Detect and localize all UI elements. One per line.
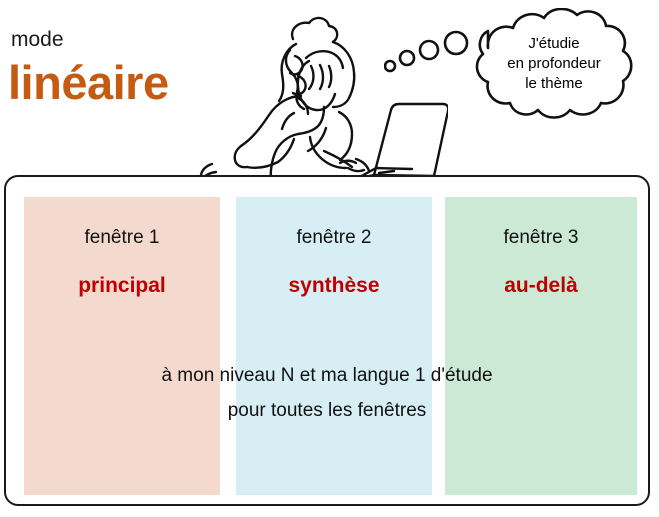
window-column-3[interactable]: fenêtre 3 au-delà bbox=[445, 197, 637, 495]
thought-dot-2 bbox=[400, 51, 414, 65]
window-column-1-label: fenêtre 1 bbox=[24, 226, 220, 249]
thought-dot-1 bbox=[385, 61, 395, 71]
thought-bubble-line-3: le thème bbox=[474, 74, 634, 94]
window-column-2-label: fenêtre 2 bbox=[236, 226, 432, 249]
thought-bubble: J'étudie en profondeur le thème bbox=[384, 8, 659, 140]
thought-bubble-line-2: en profondeur bbox=[474, 54, 634, 74]
window-column-3-value: au-delà bbox=[445, 273, 637, 298]
thought-bubble-text: J'étudie en profondeur le thème bbox=[474, 34, 634, 94]
thought-dot-4 bbox=[445, 32, 467, 54]
page-title: linéaire bbox=[8, 55, 169, 111]
windows-panel: fenêtre 1 principal fenêtre 2 synthèse f… bbox=[4, 175, 650, 506]
window-column-2-value: synthèse bbox=[236, 273, 432, 298]
window-column-1-value: principal bbox=[24, 273, 220, 298]
window-column-1[interactable]: fenêtre 1 principal bbox=[24, 197, 220, 495]
window-column-3-label: fenêtre 3 bbox=[445, 226, 637, 249]
mode-label: mode bbox=[11, 28, 64, 52]
thought-dot-3 bbox=[420, 41, 438, 59]
window-column-2[interactable]: fenêtre 2 synthèse bbox=[236, 197, 432, 495]
thought-bubble-line-1: J'étudie bbox=[474, 34, 634, 54]
